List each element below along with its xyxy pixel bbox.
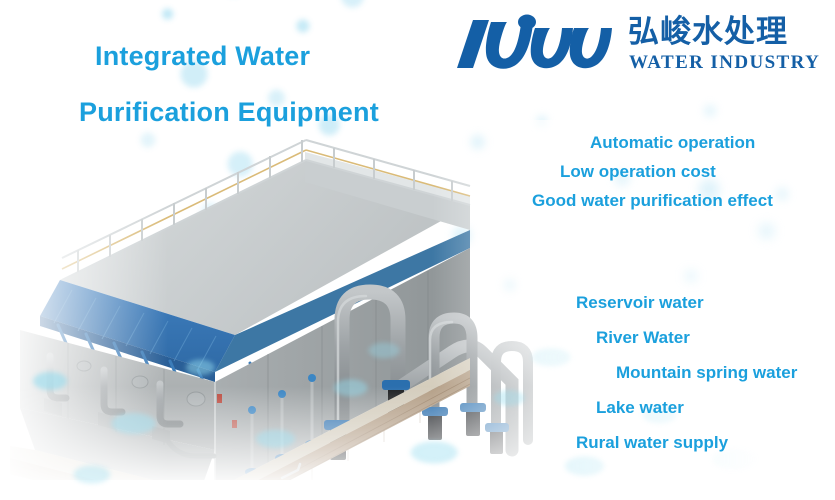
feature-item: Low operation cost xyxy=(560,157,820,186)
water-source-item: Lake water xyxy=(596,390,835,425)
feature-item: Automatic operation xyxy=(590,128,820,157)
water-source-item: Rural water supply xyxy=(576,425,835,460)
title-line-1: Integrated Water xyxy=(95,41,310,71)
feature-item: Good water purification effect xyxy=(532,186,820,215)
product-banner: Integrated Water Purification Equipment xyxy=(0,0,835,500)
page-title: Integrated Water Purification Equipment xyxy=(95,28,445,140)
logo-chinese-name: 弘峻水处理 xyxy=(628,14,788,50)
water-source-item: Mountain spring water xyxy=(616,355,835,390)
water-source-item: Reservoir water xyxy=(576,285,835,320)
hw-swoosh-logo-icon xyxy=(443,12,618,74)
water-source-list: Reservoir water River Water Mountain spr… xyxy=(540,285,835,460)
water-source-item: River Water xyxy=(596,320,835,355)
feature-list: Automatic operation Low operation cost G… xyxy=(500,128,820,215)
logo-english-name: WATER INDUSTRY xyxy=(629,52,820,74)
company-logo: 弘峻水处理 WATER INDUSTRY xyxy=(443,12,828,84)
title-line-2: Purification Equipment xyxy=(79,84,445,140)
